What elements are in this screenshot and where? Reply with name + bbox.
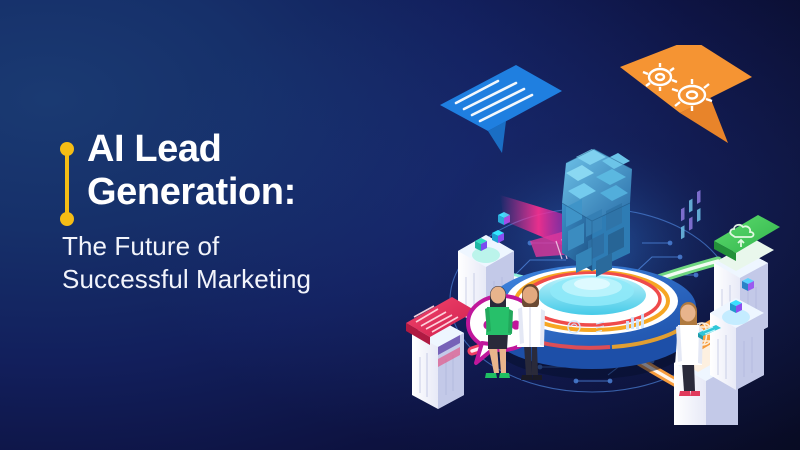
accent-dot-bottom [60, 212, 74, 226]
accent-line [65, 147, 69, 221]
promo-banner: AI LeadGeneration: The Future ofSuccessf… [0, 0, 800, 450]
ai-network-hub-illustration [380, 45, 800, 425]
page-title: AI LeadGeneration: [55, 128, 395, 214]
title-line-2: Generation: [87, 171, 395, 214]
page-subtitle: The Future ofSuccessful Marketing [55, 230, 395, 296]
subtitle-line-1: The Future of [62, 231, 219, 261]
accent-dot-top [60, 142, 74, 156]
headline-block: AI LeadGeneration: The Future ofSuccessf… [55, 128, 395, 296]
vertical-accent-bar [60, 142, 74, 226]
title-line-1: AI Lead [87, 128, 221, 170]
node-card-red-document [406, 297, 476, 409]
subtitle-line-2: Successful Marketing [62, 263, 395, 296]
